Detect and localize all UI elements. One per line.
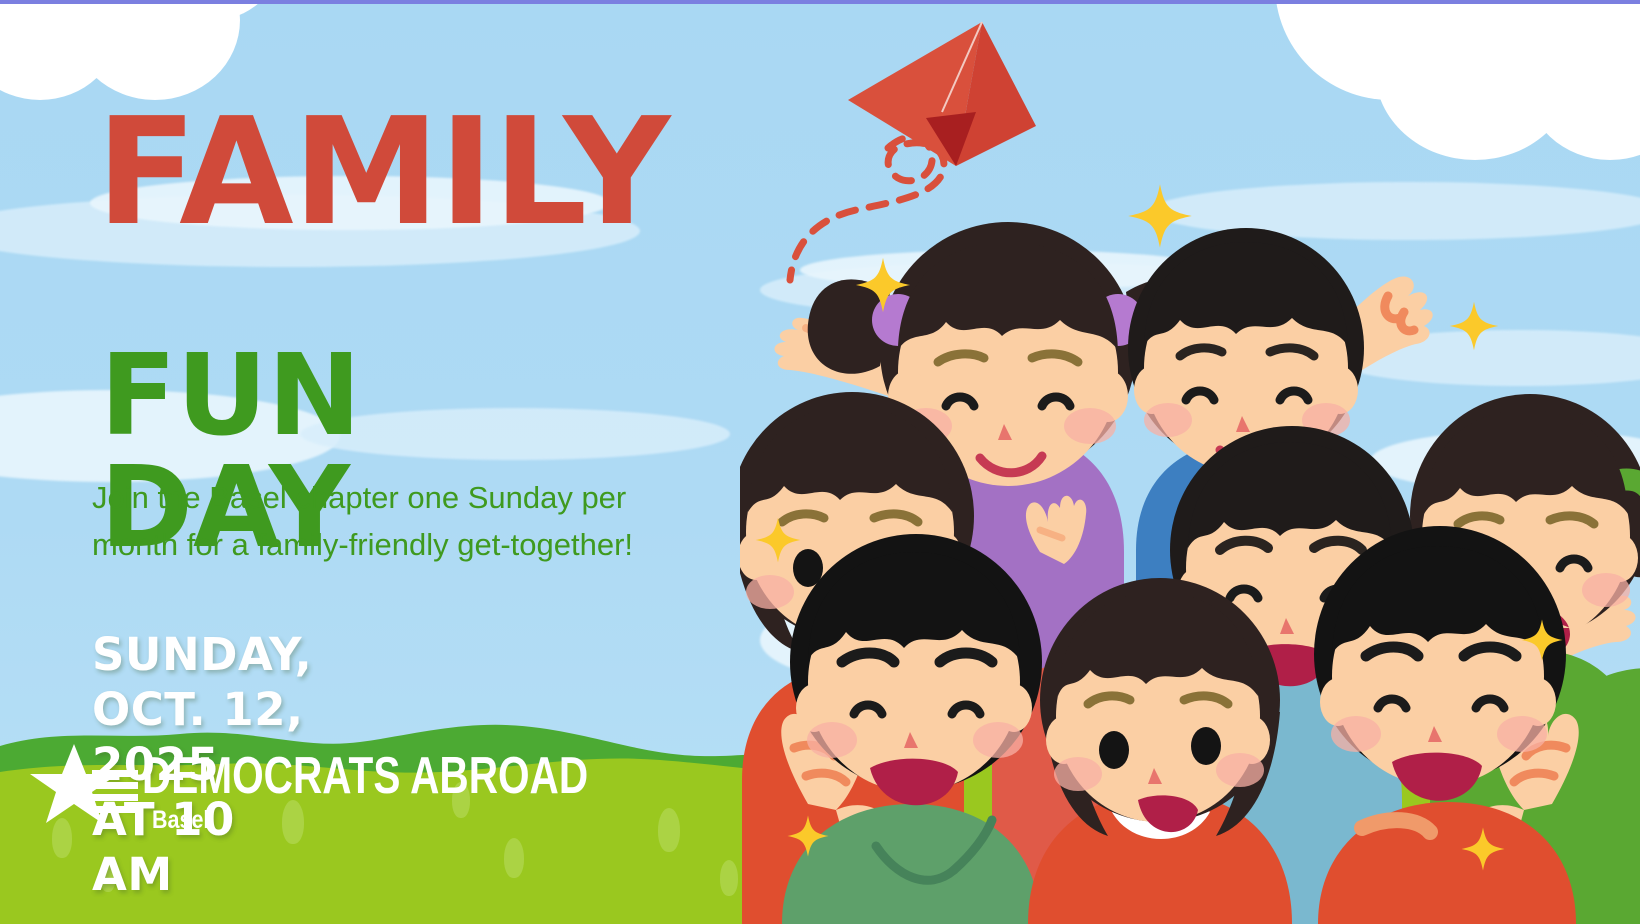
grass-blade (720, 860, 738, 896)
grass-blade (504, 838, 524, 878)
sparkle-star-icon (754, 516, 802, 564)
logo-wordmark: DEMOCRATS ABROAD (142, 750, 588, 802)
sparkle-star-icon (1448, 300, 1500, 352)
star-and-stripes-icon (30, 744, 140, 824)
child-figure (1314, 526, 1579, 924)
sparkle-star-icon (1520, 618, 1564, 662)
headline-family: FAMILY (96, 98, 669, 246)
sparkle-star-icon (1126, 182, 1194, 250)
child-figure (781, 534, 1042, 924)
logo-chapter-name: Basel (152, 806, 209, 835)
democrats-abroad-logo: DEMOCRATS ABROAD Basel (30, 740, 500, 850)
grass-blade (658, 808, 680, 852)
sparkle-star-icon (786, 814, 830, 858)
top-border-line (0, 0, 1640, 4)
cloud-streak (300, 408, 730, 460)
sparkle-star-icon (1460, 826, 1506, 872)
child-figure (1028, 578, 1292, 924)
family-fun-day-poster: FAMILY FUN DAY Join the Basel chapter on… (0, 0, 1640, 924)
event-subtitle: Join the Basel chapter one Sunday per mo… (92, 474, 712, 568)
sparkle-star-icon (854, 256, 912, 314)
top-right-cloud (1255, 0, 1640, 160)
